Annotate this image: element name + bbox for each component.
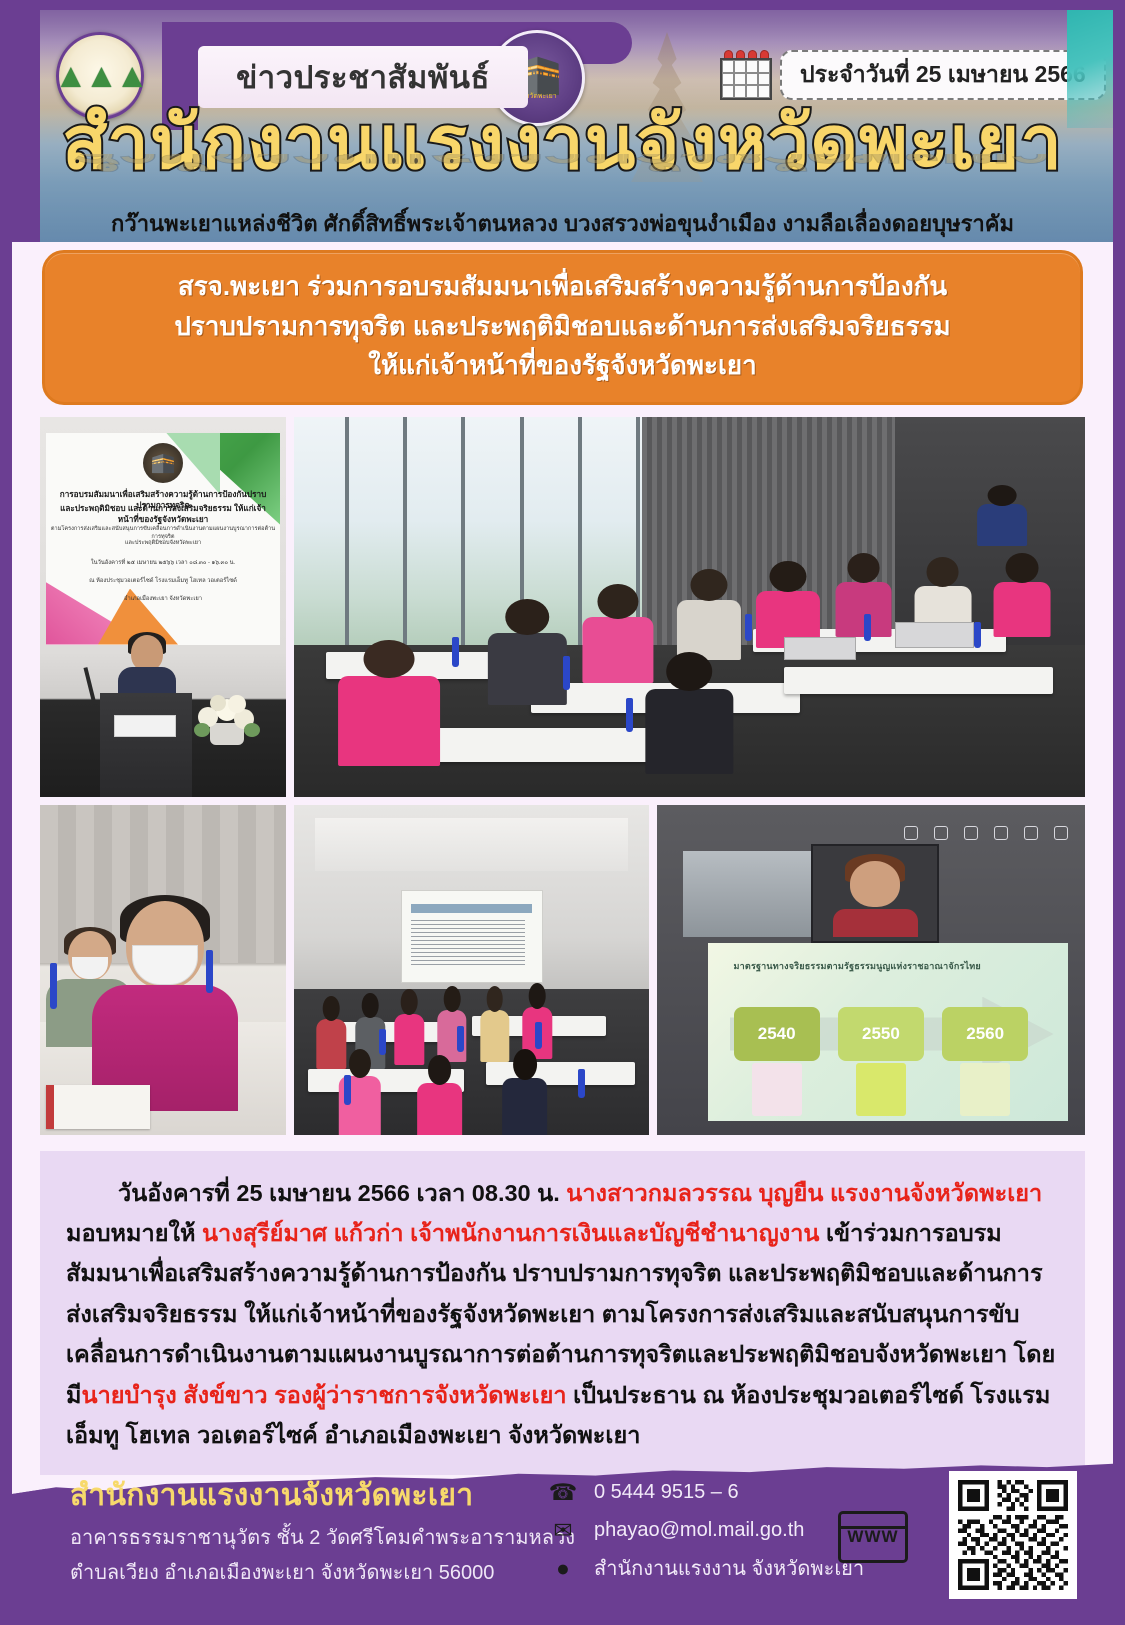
footer-address-line-1: อาคารธรรมราชานุวัตร ชั้น 2 วัดศรีโคมคำพร…	[70, 1523, 575, 1554]
body-person-2: นางสุรีย์มาศ แก้วก่า เจ้าพนักงานการเงินแ…	[202, 1220, 819, 1246]
body-seg-5: เข้าร่วมการอบรมสัมมนาเพื่อเสริมสร้างความ…	[66, 1220, 1055, 1408]
photo-seminar-room-wide	[294, 417, 1085, 797]
stage-banner: 🕋 การอบรมสัมมนาเพื่อเสริมสร้างความรู้ด้า…	[46, 433, 280, 645]
footer-address-line-2: ตำบลเวียง อำเภอเมืองพะเยา จังหวัดพะเยา 5…	[70, 1558, 575, 1589]
www-browser-icon[interactable]: WWW	[838, 1511, 908, 1563]
pr-badge: ข่าวประชาสัมพันธ์	[198, 46, 528, 108]
photo-officer-closeup	[40, 805, 286, 1135]
video-toolbar	[666, 818, 1077, 848]
province-tagline: กว๊านพะเยาแหล่งชีวิต ศักดิ์สิทธิ์พระเจ้า…	[12, 206, 1113, 241]
footer-contact-block: ☎ 0 5444 9515 – 6 ✉ phayao@mol.mail.go.t…	[548, 1477, 864, 1591]
calendar-icon	[718, 48, 774, 100]
officer-person	[92, 901, 238, 1111]
banner-title-2: และประพฤติมิชอบ และด้านการส่งเสริมจริยธร…	[50, 503, 276, 526]
poster-header: ▲▲▲ 🕋 จังหวัดพะเยา ข่าวประชาสัมพันธ์ ประ…	[12, 10, 1113, 242]
contact-phone-value: 0 5444 9515 – 6	[594, 1481, 739, 1504]
banner-sub-3: ในวันอังคารที่ ๒๕ เมษายน ๒๕๖๖ เวลา ๐๘.๓๐…	[50, 559, 276, 568]
contact-email-row[interactable]: ✉ phayao@mol.mail.go.th	[548, 1515, 864, 1545]
www-label: WWW	[847, 1527, 898, 1547]
page-title-reflection: สำนักงานแรงงานจังหวัดพะเยา	[12, 154, 1113, 172]
photo-projector-slide: มาตรฐานทางจริยธรรมตามรัฐธรรมนูญแห่งราชอา…	[657, 805, 1085, 1135]
photo-gallery: 🕋 การอบรมสัมมนาเพื่อเสริมสร้างความรู้ด้า…	[40, 417, 1085, 1135]
slide-card-1	[752, 1063, 802, 1116]
contact-email-value: phayao@mol.mail.go.th	[594, 1519, 804, 1542]
banner-sub-2: และประพฤติมิชอบจังหวัดพะเยา	[50, 539, 276, 547]
slide-card-2	[856, 1063, 906, 1116]
photo-row-top: 🕋 การอบรมสัมมนาเพื่อเสริมสร้างความรู้ด้า…	[40, 417, 1085, 797]
presentation-slide: มาตรฐานทางจริยธรรมตามรัฐธรรมนูญแห่งราชอา…	[708, 943, 1068, 1121]
photo-room-from-back	[294, 805, 649, 1135]
body-person-1: นางสาวกมลวรรณ บุญยืน แรงงานจังหวัดพะเยา	[566, 1180, 1042, 1206]
poster-inner: ▲▲▲ 🕋 จังหวัดพะเยา ข่าวประชาสัมพันธ์ ประ…	[12, 10, 1113, 1625]
poster-footer: สำนักงานแรงงานจังหวัดพะเยา อาคารธรรมราชา…	[12, 1445, 1113, 1625]
contact-phone-row[interactable]: ☎ 0 5444 9515 – 6	[548, 1477, 864, 1507]
date-badge-label: ประจำวันที่ 25 เมษายน 2566	[800, 57, 1086, 93]
photo-podium-speaker: 🕋 การอบรมสัมมนาเพื่อเสริมสร้างความรู้ด้า…	[40, 417, 286, 797]
headline-box: สรจ.พะเยา ร่วมการอบรมสัมมนาเพื่อเสริมสร้…	[42, 250, 1083, 405]
body-seg-1: วันอังคารที่ 25 เมษายน 2566 เวลา 08.30 น…	[118, 1180, 566, 1206]
banner-seal-icon: 🕋	[143, 443, 183, 483]
envelope-icon: ✉	[548, 1515, 578, 1545]
news-body-panel: วันอังคารที่ 25 เมษายน 2566 เวลา 08.30 น…	[40, 1151, 1085, 1476]
pr-badge-label: ข่าวประชาสัมพันธ์	[236, 52, 490, 102]
slide-title: มาตรฐานทางจริยธรรมตามรัฐธรรมนูญแห่งราชอา…	[734, 959, 1050, 973]
footer-org-name: สำนักงานแรงงานจังหวัดพะเยา	[70, 1472, 575, 1519]
date-badge: ประจำวันที่ 25 เมษายน 2566	[780, 50, 1106, 100]
footer-address-block: สำนักงานแรงงานจังหวัดพะเยา อาคารธรรมราชา…	[70, 1472, 575, 1589]
slide-year-2560: 2560	[942, 1007, 1028, 1060]
poster-root: ▲▲▲ 🕋 จังหวัดพะเยา ข่าวประชาสัมพันธ์ ประ…	[0, 0, 1125, 1625]
headline-line-2: ปราบปรามการทุจริต และประพฤติมิชอบและด้าน…	[71, 307, 1054, 347]
contact-facebook-row[interactable]: ● สำนักงานแรงงาน จังหวัดพะเยา	[548, 1553, 864, 1583]
slide-year-2540: 2540	[734, 1007, 820, 1060]
podium	[100, 693, 192, 797]
document-on-table	[46, 1085, 150, 1129]
facebook-icon: ●	[548, 1553, 578, 1583]
photo-row-bottom: มาตรฐานทางจริยธรรมตามรัฐธรรมนูญแห่งราชอา…	[40, 805, 1085, 1135]
flower-bouquet	[190, 689, 264, 745]
video-speaker-tile	[811, 844, 939, 943]
contact-facebook-value: สำนักงานแรงงาน จังหวัดพะเยา	[594, 1552, 864, 1584]
phone-icon: ☎	[548, 1477, 578, 1507]
slide-year-2550: 2550	[838, 1007, 924, 1060]
headline-line-3: ให้แก่เจ้าหน้าที่ของรัฐจังหวัดพะเยา	[71, 346, 1054, 386]
body-person-3: นายบำรุง สังข์ขาว รองผู้ว่าราชการจังหวัด…	[82, 1382, 567, 1408]
banner-sub-5: อำเภอเมืองพะเยา จังหวัดพะเยา	[50, 595, 276, 604]
slide-card-3	[960, 1063, 1010, 1116]
body-seg-3: มอบหมายให้	[66, 1220, 202, 1246]
headline-line-1: สรจ.พะเยา ร่วมการอบรมสัมมนาเพื่อเสริมสร้…	[71, 267, 1054, 307]
qr-code[interactable]	[949, 1471, 1077, 1599]
news-body-text: วันอังคารที่ 25 เมษายน 2566 เวลา 08.30 น…	[66, 1173, 1059, 1456]
banner-sub-4: ณ ห้องประชุมวอเตอร์ไซด์ โรงแรมเอ็มทู โฮเ…	[50, 577, 276, 586]
